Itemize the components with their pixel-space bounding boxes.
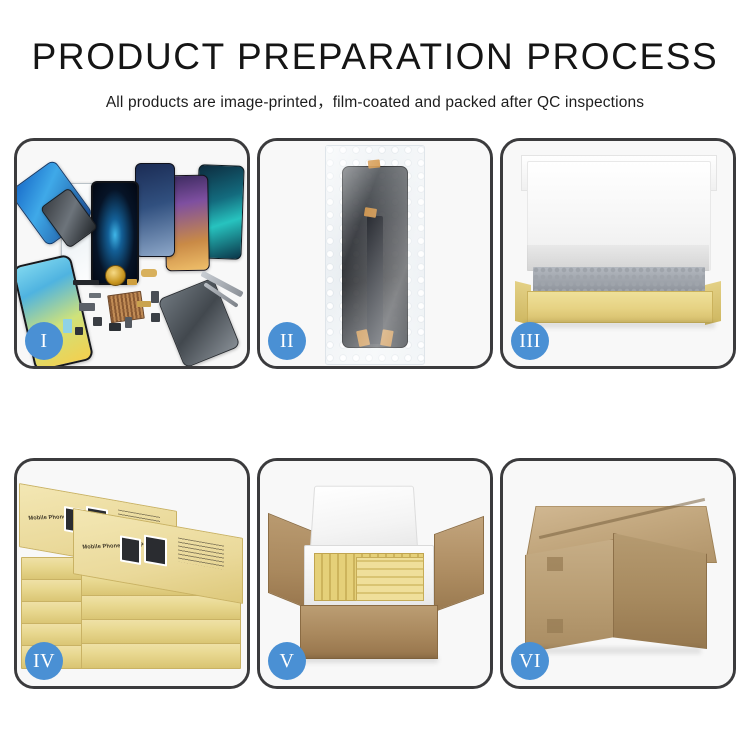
foam-lid — [310, 486, 419, 553]
yellow-box-front — [527, 291, 713, 323]
grey-bubble-foam — [533, 267, 705, 293]
box-shadow — [525, 321, 715, 328]
small-part — [109, 323, 121, 331]
small-part — [89, 293, 101, 298]
box-window-graphic — [144, 535, 167, 567]
phone-blue-notch-display — [135, 163, 175, 257]
tape-strip — [368, 159, 381, 168]
screen-flex-cable — [367, 216, 383, 344]
carton-shadow — [300, 656, 438, 663]
carton-shadow — [529, 647, 701, 654]
process-step-2[interactable]: II — [257, 138, 493, 369]
page-title: PRODUCT PREPARATION PROCESS — [0, 38, 750, 77]
small-part — [79, 303, 95, 311]
tape-strip — [364, 207, 377, 218]
carton-tape-patch — [547, 557, 563, 571]
small-part — [151, 313, 160, 322]
stacked-box — [81, 619, 241, 645]
process-step-6[interactable]: VI — [500, 458, 736, 689]
small-part — [141, 269, 157, 277]
step-badge-3: III — [511, 322, 549, 360]
bubble-wrap-bag — [325, 145, 425, 365]
process-step-4[interactable]: Mobile Phone Spare Parts Mobile Phone Sp… — [14, 458, 250, 689]
gold-boxes-right — [356, 557, 424, 601]
small-part — [125, 317, 132, 328]
carton-front-panel — [300, 605, 438, 659]
gold-coil-part — [105, 265, 126, 286]
process-step-3[interactable]: III — [500, 138, 736, 369]
step-badge-2: II — [268, 322, 306, 360]
carton-left-face — [525, 539, 615, 653]
process-step-1[interactable]: I — [14, 138, 250, 369]
small-part — [137, 301, 151, 307]
step-badge-6: VI — [511, 642, 549, 680]
step-badge-5: V — [268, 642, 306, 680]
process-step-grid: I II III — [14, 138, 736, 689]
small-part — [93, 317, 102, 326]
stacked-box — [81, 643, 241, 669]
process-step-5[interactable]: V — [257, 458, 493, 689]
carton-tape-patch — [547, 619, 563, 633]
small-part — [127, 279, 137, 285]
step-badge-1: I — [25, 322, 63, 360]
small-part — [75, 327, 83, 335]
page-header: PRODUCT PREPARATION PROCESS All products… — [0, 0, 750, 112]
page-subtitle: All products are image-printed，film-coat… — [0, 90, 750, 112]
small-part — [151, 291, 159, 303]
antenna-bar-part — [73, 280, 99, 285]
small-part — [63, 319, 72, 333]
carton-right-flap — [434, 516, 484, 612]
step-badge-4: IV — [25, 642, 63, 680]
box-window-graphic — [120, 535, 141, 565]
